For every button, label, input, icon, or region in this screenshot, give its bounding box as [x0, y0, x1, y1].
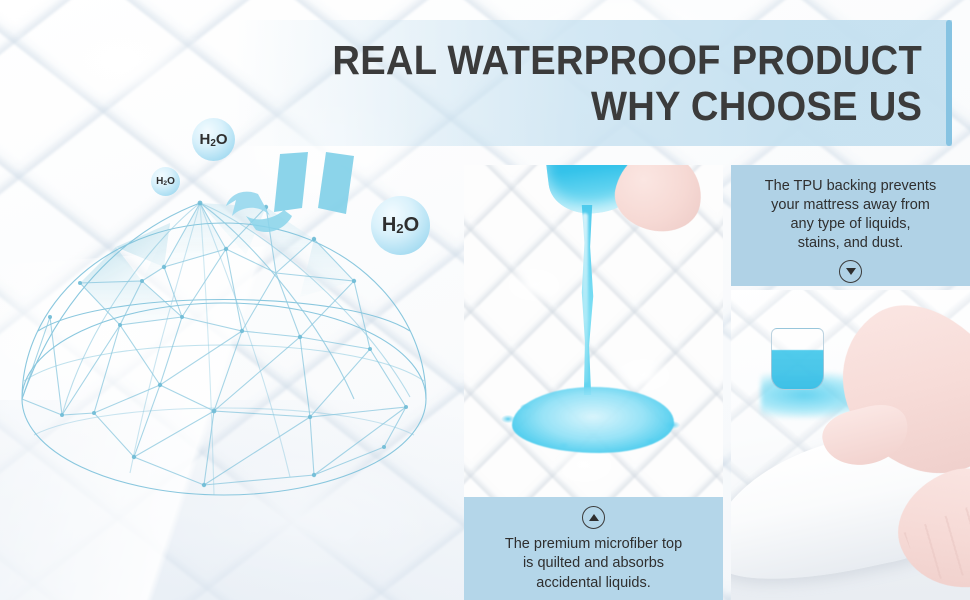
liquid-pool — [512, 387, 674, 453]
tpu-line-3: any type of liquids, — [765, 215, 936, 234]
tpu-line-1: The TPU backing prevents — [765, 177, 936, 196]
h2o-label: H2O — [199, 131, 227, 148]
tpu-line-2: your mattress away from — [765, 196, 936, 215]
glass-of-blue-liquid — [771, 328, 824, 390]
pouring-liquid-photo — [464, 165, 723, 497]
headline-line-1: REAL WATERPROOF PRODUCT — [332, 38, 922, 84]
tpu-line-4: stains, and dust. — [765, 234, 936, 253]
h2o-bubble-medium: H2O — [192, 118, 235, 161]
h2o-bubble-small: H2O — [151, 167, 180, 196]
headline-line-2: WHY CHOOSE US — [591, 84, 922, 130]
microfiber-caption-text: The premium microfiber top is quilted an… — [505, 535, 682, 593]
caption-line-2: is quilted and absorbs — [505, 554, 682, 573]
h2o-label: H2O — [156, 176, 175, 187]
product-infographic: H2O H2O H2O REAL WATERPROOF PRODUCT WHY … — [0, 0, 970, 600]
tpu-callout-text: The TPU backing prevents your mattress a… — [765, 177, 936, 254]
lifting-pad-photo — [731, 290, 970, 600]
caption-line-3: accidental liquids. — [505, 574, 682, 593]
microfiber-caption: The premium microfiber top is quilted an… — [464, 497, 723, 600]
caption-line-1: The premium microfiber top — [505, 535, 682, 554]
liquid-stream-highlight — [582, 213, 588, 383]
chevron-up-circle-icon — [582, 506, 605, 529]
h2o-bubble-large: H2O — [371, 196, 430, 255]
page-title: REAL WATERPROOF PRODUCT WHY CHOOSE US — [250, 22, 938, 146]
headline-accent-bar — [946, 20, 952, 146]
h2o-label: H2O — [382, 214, 419, 237]
tpu-backing-callout: The TPU backing prevents your mattress a… — [731, 165, 970, 286]
chevron-down-circle-icon — [839, 260, 862, 283]
